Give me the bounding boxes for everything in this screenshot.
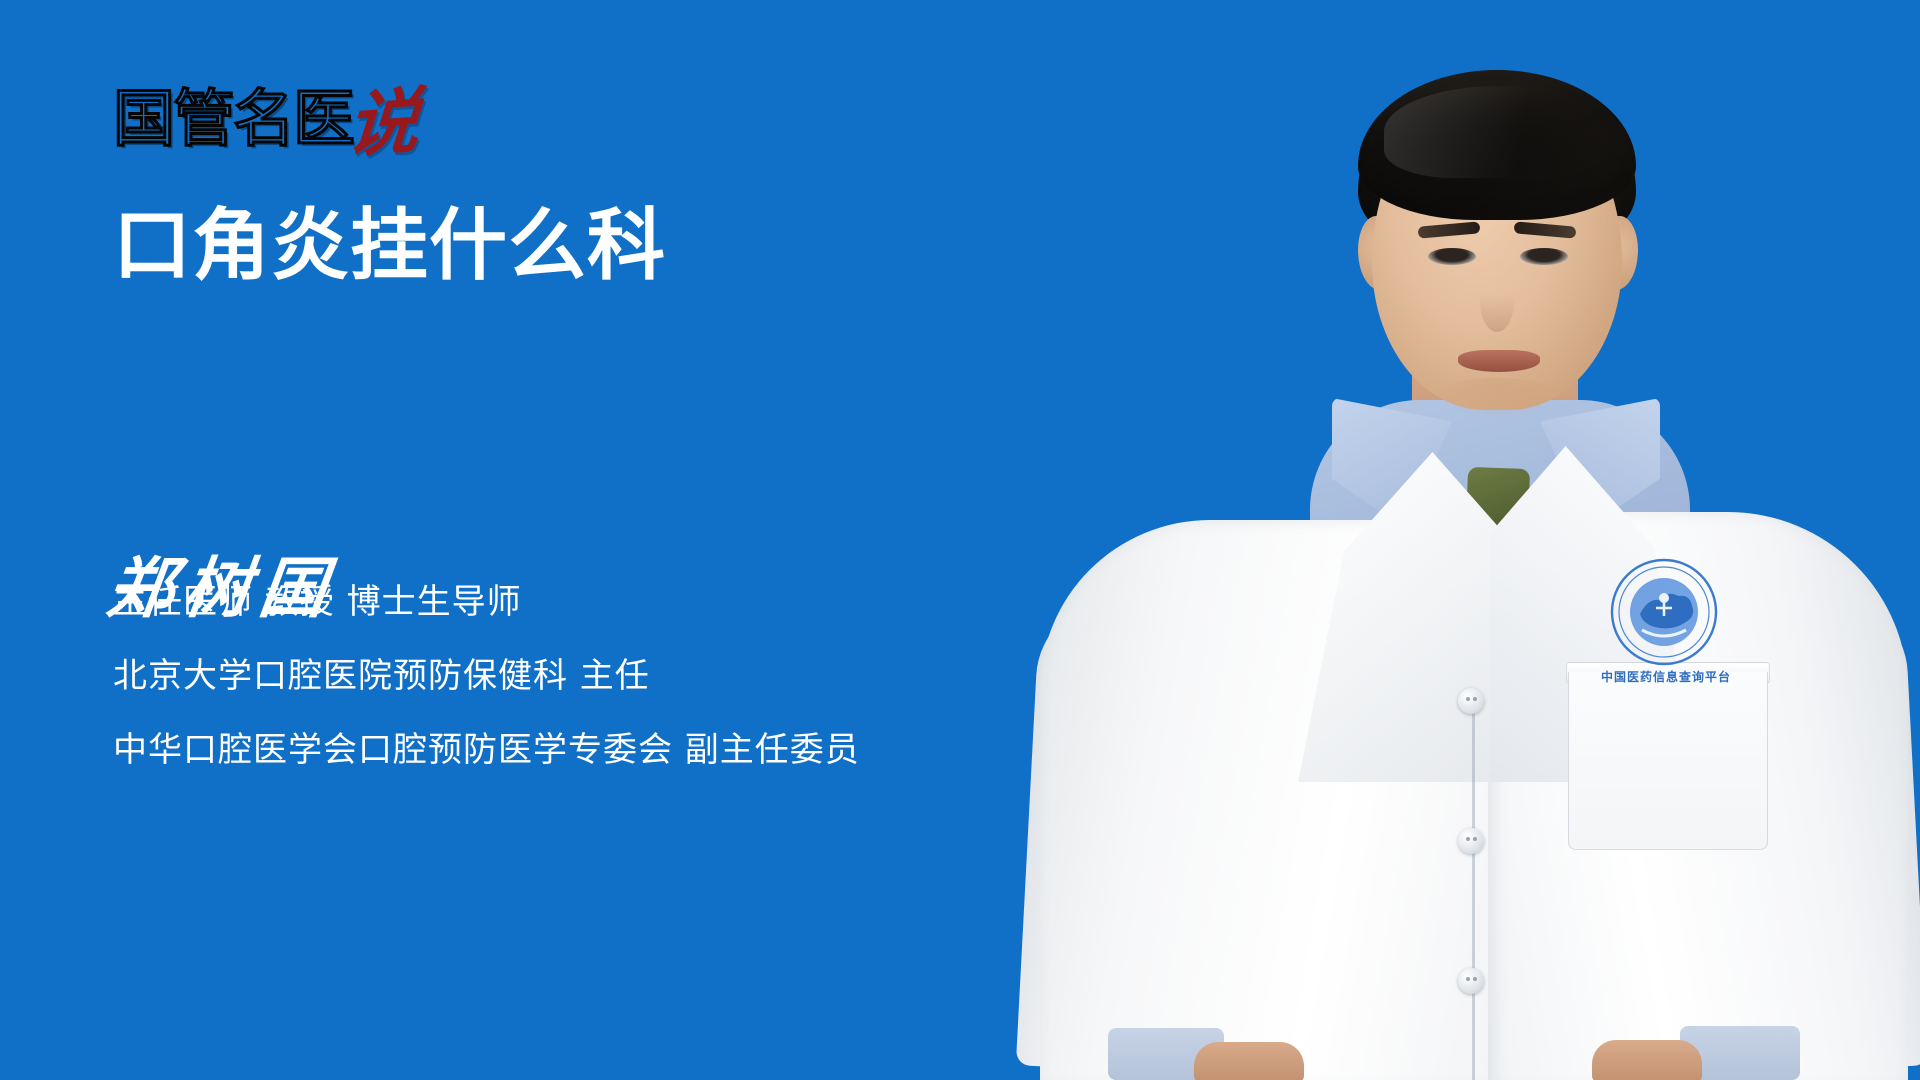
hand-right <box>1592 1040 1702 1080</box>
eye-left <box>1428 248 1476 265</box>
lab-coat-chest-pocket <box>1568 672 1768 850</box>
doctor-portrait-image: 中国医药信息查询平台 <box>980 0 1920 1080</box>
page-title: 口角炎挂什么科 <box>113 203 666 290</box>
credential-line: 中华口腔医学会口腔预防医学专委会 副主任委员 <box>113 733 1113 767</box>
brand-logo: 国管名医 说 <box>113 88 419 150</box>
brand-logo-main-text: 国管名医 <box>113 88 353 150</box>
video-cover-slide: 国管名医 说 口角炎挂什么科 中国医药信息查询平台 <box>0 0 1920 1080</box>
nose <box>1480 270 1514 332</box>
chin-shadow <box>1432 378 1564 418</box>
hand-left <box>1194 1042 1304 1080</box>
brand-logo-accent-text: 说 <box>344 87 421 158</box>
lab-coat-placket <box>1472 690 1475 1080</box>
lab-coat-badge-label: 中国医药信息查询平台 <box>1578 668 1754 685</box>
hair-highlight <box>1384 86 1614 178</box>
lab-coat-button <box>1458 688 1484 714</box>
credential-line: 北京大学口腔医院预防保健科 主任 <box>113 659 1113 693</box>
lab-coat-button <box>1458 828 1484 854</box>
lab-coat-button <box>1458 968 1484 994</box>
platform-emblem-icon <box>1610 558 1718 666</box>
doctor-credentials: 主任医师 教授 博士生导师 北京大学口腔医院预防保健科 主任 中华口腔医学会口腔… <box>113 585 1113 767</box>
eye-right <box>1520 248 1568 265</box>
credential-line: 主任医师 教授 博士生导师 <box>113 585 1113 619</box>
mouth <box>1458 350 1540 372</box>
